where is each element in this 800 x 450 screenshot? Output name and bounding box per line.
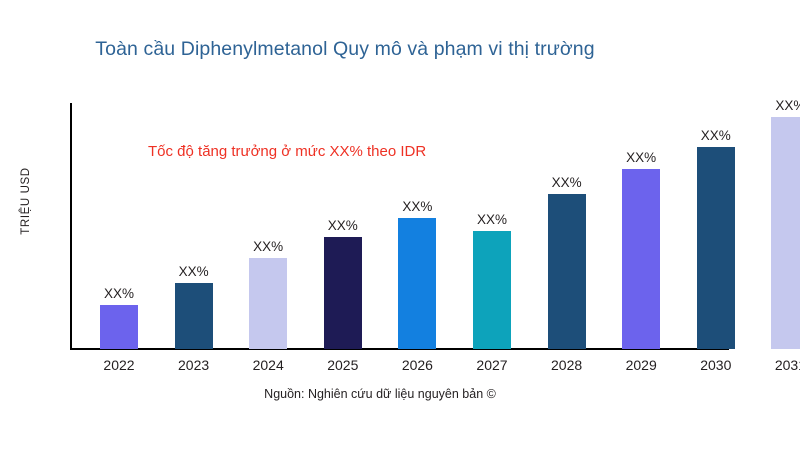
bar-group-2027[interactable]: XX%: [473, 231, 511, 349]
bar-2030[interactable]: [697, 147, 735, 349]
bar-group-2022[interactable]: XX%: [100, 305, 138, 349]
bar-value-label-2031: XX%: [758, 98, 800, 113]
source-caption: Nguồn: Nghiên cứu dữ liệu nguyên bản ©: [0, 387, 760, 401]
chart-canvas: Toàn cầu Diphenylmetanol Quy mô và phạm …: [0, 0, 800, 450]
x-axis-tick-2029: 2029: [609, 357, 673, 373]
x-axis-tick-2026: 2026: [385, 357, 449, 373]
bar-group-2028[interactable]: XX%: [548, 194, 586, 349]
bar-value-label-2025: XX%: [311, 218, 375, 233]
bar-group-2023[interactable]: XX%: [175, 283, 213, 349]
x-axis-tick-2025: 2025: [311, 357, 375, 373]
x-axis-tick-2023: 2023: [162, 357, 226, 373]
bar-value-label-2026: XX%: [385, 199, 449, 214]
bar-value-label-2022: XX%: [87, 286, 151, 301]
x-axis-tick-2022: 2022: [87, 357, 151, 373]
bar-2028[interactable]: [548, 194, 586, 349]
bar-2029[interactable]: [622, 169, 660, 349]
bar-group-2029[interactable]: XX%: [622, 169, 660, 349]
y-axis-label: TRIỆU USD: [20, 156, 32, 246]
bar-2027[interactable]: [473, 231, 511, 349]
bar-value-label-2028: XX%: [535, 175, 599, 190]
page-title: Toàn cầu Diphenylmetanol Quy mô và phạm …: [0, 38, 690, 61]
bar-value-label-2030: XX%: [684, 128, 748, 143]
x-axis-tick-2031: 2031: [758, 357, 800, 373]
bar-value-label-2023: XX%: [162, 264, 226, 279]
x-axis-tick-2028: 2028: [535, 357, 599, 373]
bar-value-label-2027: XX%: [460, 212, 524, 227]
bar-2022[interactable]: [100, 305, 138, 349]
plot-area: XX%XX%XX%XX%XX%XX%XX%XX%XX%XX%: [70, 95, 800, 350]
bar-group-2026[interactable]: XX%: [398, 218, 436, 349]
bar-value-label-2024: XX%: [236, 239, 300, 254]
bar-2023[interactable]: [175, 283, 213, 349]
x-axis-tick-2030: 2030: [684, 357, 748, 373]
bar-group-2025[interactable]: XX%: [324, 237, 362, 349]
bar-2031[interactable]: [771, 117, 800, 349]
x-axis-tick-2024: 2024: [236, 357, 300, 373]
bar-group-2031[interactable]: XX%: [771, 117, 800, 349]
bar-2024[interactable]: [249, 258, 287, 349]
bar-group-2024[interactable]: XX%: [249, 258, 287, 349]
bar-value-label-2029: XX%: [609, 150, 673, 165]
x-axis-tick-2027: 2027: [460, 357, 524, 373]
bar-2025[interactable]: [324, 237, 362, 349]
bar-group-2030[interactable]: XX%: [697, 147, 735, 349]
bar-2026[interactable]: [398, 218, 436, 349]
